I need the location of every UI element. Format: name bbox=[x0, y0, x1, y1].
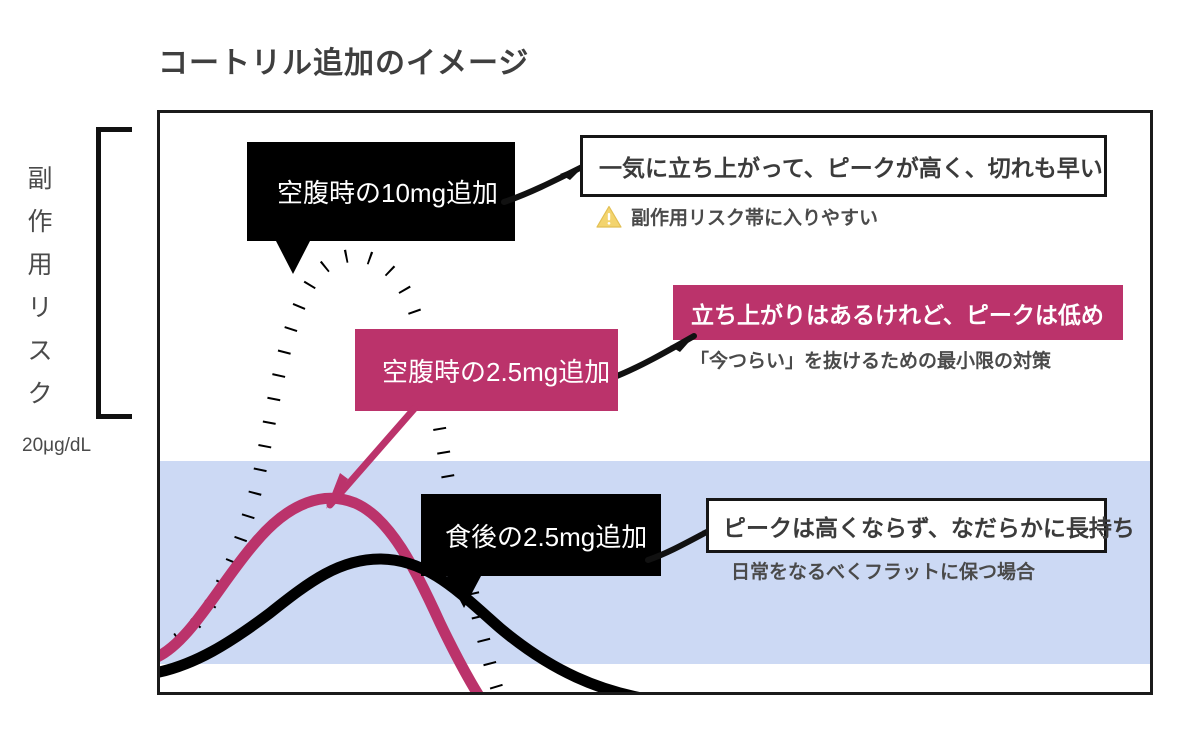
axis-vertical-label-char-2: 用 bbox=[22, 244, 58, 287]
axis-vertical-label-char-3: リ bbox=[22, 287, 58, 330]
axis-vertical-label-char-0: 副 bbox=[22, 158, 58, 201]
axis-vertical-label: 副 作 用 リ ス ク bbox=[22, 158, 58, 416]
axis-vertical-label-char-4: ス bbox=[22, 330, 58, 373]
pointer-stroke-fasting-10mg bbox=[500, 160, 590, 208]
warning-triangle-icon bbox=[596, 205, 622, 229]
page-title: コートリル追加のイメージ bbox=[158, 38, 529, 82]
note-postmeal-2-5mg-sub: 日常をなるべくフラットに保つ場合 bbox=[731, 557, 1035, 584]
callout-fasting-2-5mg-pointer bbox=[318, 405, 428, 515]
callout-postmeal-2-5mg-tail bbox=[447, 576, 481, 608]
callout-fasting-10mg-label: 空腹時の10mg追加 bbox=[277, 173, 498, 210]
note-fasting-10mg-sub: 副作用リスク帯に入りやすい bbox=[596, 203, 878, 230]
callout-fasting-2-5mg-label: 空腹時の2.5mg追加 bbox=[382, 352, 610, 389]
note-fasting-2-5mg-headline-text: 立ち上がりはあるけれど、ピークは低め bbox=[691, 296, 1104, 330]
note-postmeal-2-5mg-sub-text: 日常をなるべくフラットに保つ場合 bbox=[731, 557, 1035, 584]
note-postmeal-2-5mg-headline: ピークは高くならず、なだらかに長持ち bbox=[706, 498, 1107, 553]
note-fasting-10mg-sub-text: 副作用リスク帯に入りやすい bbox=[631, 203, 878, 230]
axis-vertical-label-char-1: 作 bbox=[22, 201, 58, 244]
axis-unit-label: 20μg/dL bbox=[22, 435, 91, 457]
note-fasting-10mg-headline: 一気に立ち上がって、ピークが高く、切れも早い bbox=[580, 135, 1107, 197]
note-fasting-2-5mg-sub: 「今つらい」を抜けるための最小限の対策 bbox=[690, 346, 1051, 373]
note-postmeal-2-5mg-headline-text: ピークは高くならず、なだらかに長持ち bbox=[723, 509, 1135, 543]
callout-fasting-10mg-tail bbox=[276, 241, 310, 274]
pointer-stroke-fasting-2-5mg bbox=[608, 330, 700, 384]
callout-postmeal-2-5mg-label: 食後の2.5mg追加 bbox=[445, 517, 647, 554]
note-fasting-2-5mg-sub-text: 「今つらい」を抜けるための最小限の対策 bbox=[690, 346, 1051, 373]
callout-fasting-2-5mg[interactable]: 空腹時の2.5mg追加 bbox=[355, 329, 618, 411]
callout-fasting-10mg[interactable]: 空腹時の10mg追加 bbox=[247, 142, 515, 241]
side-effect-risk-bracket bbox=[96, 127, 132, 419]
callout-postmeal-2-5mg[interactable]: 食後の2.5mg追加 bbox=[421, 494, 661, 576]
note-fasting-10mg-headline-text: 一気に立ち上がって、ピークが高く、切れも早い bbox=[599, 149, 1103, 183]
note-fasting-2-5mg-headline: 立ち上がりはあるけれど、ピークは低め bbox=[673, 285, 1123, 340]
slide-canvas: コートリル追加のイメージ 副 作 用 リ ス ク 20μg/dL 空腹時の10m… bbox=[0, 0, 1200, 743]
axis-vertical-label-char-5: ク bbox=[22, 373, 58, 416]
